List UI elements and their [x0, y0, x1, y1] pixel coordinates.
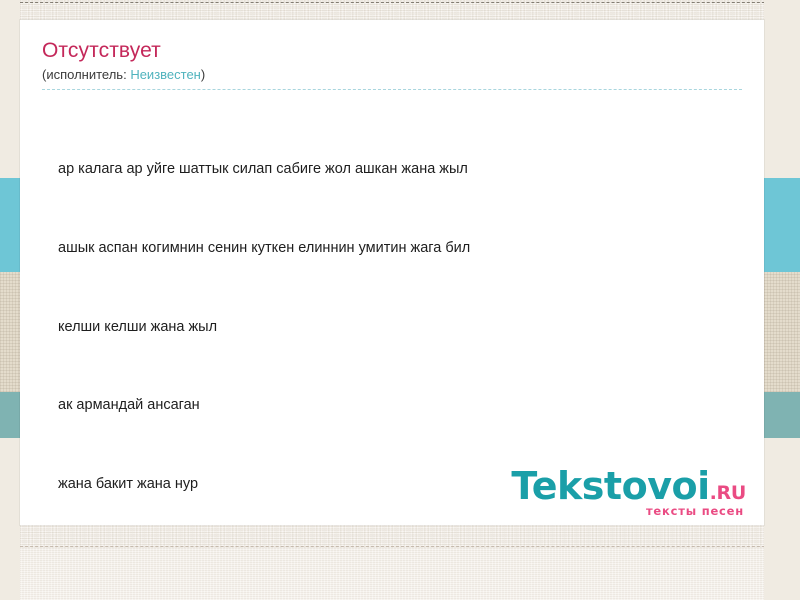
right-swatch-beige-upper — [764, 0, 800, 178]
site-logo-wordmark: Tekstovoi.RU — [511, 467, 746, 505]
left-swatch-teal-muted — [0, 392, 20, 438]
left-swatch-beige-upper — [0, 0, 20, 178]
lyrics-line: ашык аспан когимнин сенин куткен елиннин… — [58, 235, 742, 261]
lyrics-line: ар калага ар уйге шаттык силап сабиге жо… — [58, 156, 742, 182]
right-swatch-beige-textured — [764, 272, 800, 392]
site-logo-name: Tekstovoi — [511, 467, 709, 505]
left-swatch-beige-textured — [0, 272, 20, 392]
artist-line: (исполнитель: Неизвестен) — [42, 66, 742, 89]
right-swatch-beige-lower — [764, 438, 800, 600]
artist-label: (исполнитель: — [42, 67, 127, 82]
lyrics-card: Отсутствует (исполнитель: Неизвестен) ар… — [20, 20, 764, 525]
lyrics-line: келши келши жана жыл — [58, 314, 742, 340]
right-swatch-teal-bright — [764, 178, 800, 272]
left-swatch-teal-bright — [0, 178, 20, 272]
artist-suffix: ) — [201, 67, 205, 82]
lyrics-card-body: Отсутствует (исполнитель: Неизвестен) ар… — [20, 20, 764, 525]
left-swatch-beige-lower — [0, 438, 20, 600]
artist-link[interactable]: Неизвестен — [130, 67, 201, 82]
bottom-dotted-rule — [0, 546, 800, 547]
site-logo-tld: .RU — [710, 484, 746, 503]
page-background: Отсутствует (исполнитель: Неизвестен) ар… — [0, 0, 800, 600]
top-dotted-rule — [0, 2, 800, 3]
lyrics-line: ак армандай ансаган — [58, 392, 742, 418]
site-logo[interactable]: Tekstovoi.RU тексты песен — [511, 467, 746, 518]
lyrics-text: ар калага ар уйге шаттык силап сабиге жо… — [42, 90, 742, 525]
right-swatch-teal-muted — [764, 392, 800, 438]
page-title: Отсутствует — [42, 38, 742, 64]
